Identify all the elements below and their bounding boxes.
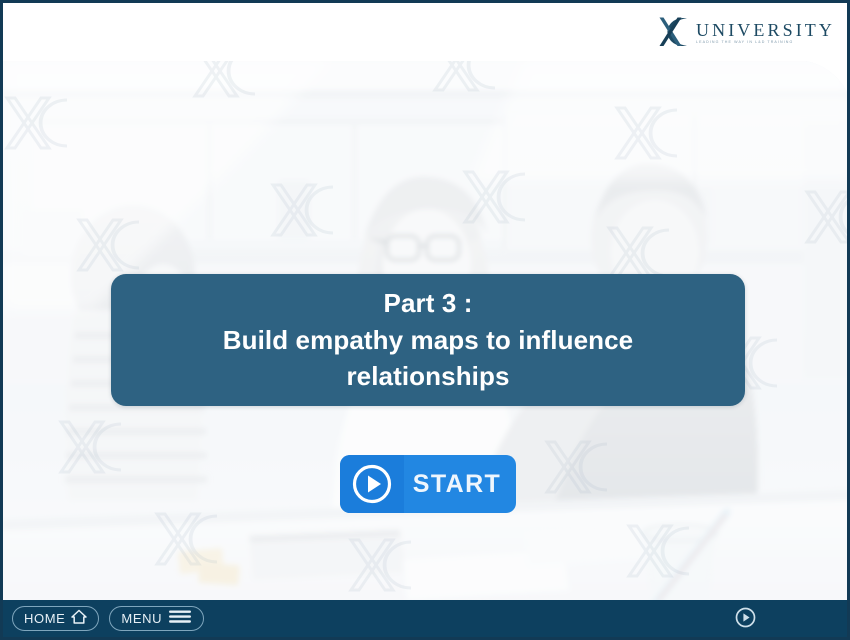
hamburger-icon <box>168 609 192 629</box>
logo-tagline: LEADING THE WAY IN L&D TRAINING <box>696 41 835 45</box>
slide-title-card: Part 3 : Build empathy maps to influence… <box>111 274 745 406</box>
title-line-3: relationships <box>346 358 509 395</box>
start-button-label: START <box>404 470 516 499</box>
logo-wordmark: UNIVERSITY <box>696 21 835 39</box>
course-slide: UNIVERSITY LEADING THE WAY IN L&D TRAINI… <box>0 0 850 640</box>
home-button-label: HOME <box>24 612 65 625</box>
home-button[interactable]: HOME <box>12 606 99 631</box>
play-circle-icon <box>340 455 404 513</box>
start-button[interactable]: START <box>340 455 516 513</box>
title-line-1: Part 3 : <box>384 285 473 322</box>
home-icon <box>71 609 87 629</box>
play-circle-icon <box>735 607 756 631</box>
university-logo: UNIVERSITY LEADING THE WAY IN L&D TRAINI… <box>651 11 835 53</box>
bottom-navigation-bar: HOME MENU <box>3 600 850 637</box>
title-line-2: Build empathy maps to influence <box>223 322 634 359</box>
logo-text: UNIVERSITY LEADING THE WAY IN L&D TRAINI… <box>696 19 835 45</box>
play-nav-button[interactable] <box>735 607 756 631</box>
menu-button[interactable]: MENU <box>109 606 204 631</box>
slide-header: UNIVERSITY LEADING THE WAY IN L&D TRAINI… <box>3 3 847 61</box>
xc-monogram-icon <box>651 12 693 52</box>
menu-button-label: MENU <box>121 612 162 625</box>
